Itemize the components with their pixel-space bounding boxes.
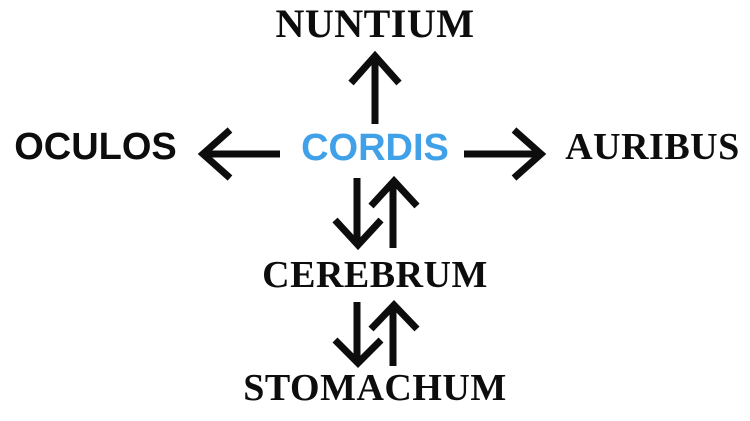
arrow-pair-cordis-cerebrum	[325, 178, 425, 248]
node-label-oculos: OCULOS	[8, 128, 183, 166]
up-arrow-icon	[371, 181, 417, 248]
down-arrow-icon	[335, 178, 381, 245]
arrow-cordis-to-auribus	[462, 126, 546, 182]
node-label-auribus: AURIBUS	[560, 128, 745, 166]
node-label-cordis: CORDIS	[285, 129, 465, 167]
arrow-pair-cerebrum-stomachum	[325, 302, 425, 366]
node-label-cerebrum: CEREBRUM	[0, 256, 750, 294]
arrow-cordis-to-nuntium	[345, 52, 405, 124]
diagram-canvas: NUNTIUM OCULOS CORDIS AURIBUS CEREBRUM S…	[0, 0, 750, 421]
arrow-cordis-to-oculos	[198, 126, 282, 182]
node-label-nuntium: NUNTIUM	[0, 4, 750, 44]
down-arrow-icon	[335, 302, 381, 363]
node-label-stomachum: STOMACHUM	[0, 369, 750, 407]
up-arrow-icon	[371, 305, 417, 366]
